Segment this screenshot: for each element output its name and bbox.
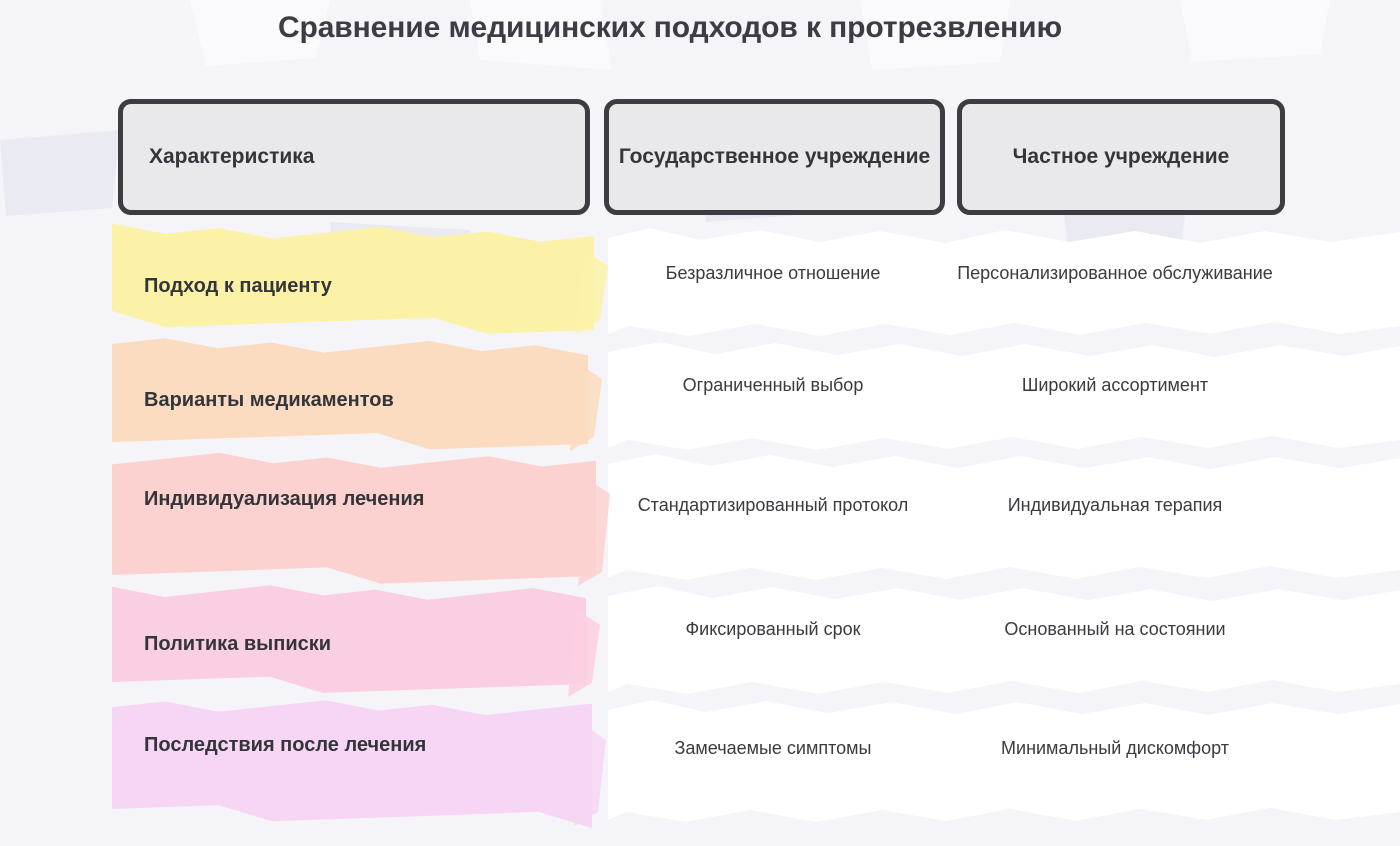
cell-row2-private: Широкий ассортимент	[950, 373, 1280, 399]
column-header-private-institution: Частное учреждение	[957, 99, 1285, 215]
column-header-label: Характеристика	[149, 144, 314, 171]
cell-row4-private: Основанный на состоянии	[950, 617, 1280, 643]
row-label-3: Индивидуализация лечения	[144, 486, 474, 513]
cell-row3-public: Стандартизированный протокол	[598, 493, 948, 519]
page-title: Сравнение медицинских подходов к протрез…	[0, 11, 1340, 45]
highlight-band-tail-row-2	[570, 363, 602, 451]
highlight-band-tail-row-5	[574, 724, 606, 826]
cell-row2-public: Ограниченный выбор	[608, 373, 938, 399]
column-header-public-institution: Государственное учреждение	[604, 99, 945, 215]
highlight-band-row-5	[112, 700, 592, 828]
cell-row3-private: Индивидуальная терапия	[950, 493, 1280, 519]
highlight-band-row-3	[112, 453, 596, 584]
row-label-2: Варианты медикаментов	[144, 387, 574, 414]
column-header-label: Государственное учреждение	[619, 144, 930, 171]
cell-row1-public: Безразличное отношение	[608, 261, 938, 287]
row-label-1: Подход к пациенту	[144, 273, 574, 300]
highlight-band-tail-row-1	[576, 250, 608, 334]
column-header-characteristic: Характеристика	[118, 99, 590, 215]
cell-row5-public: Замечаемые симптомы	[608, 736, 938, 762]
cell-row1-private: Персонализированное обслуживание	[950, 261, 1280, 287]
row-label-4: Политика выписки	[144, 631, 574, 658]
column-header-label: Частное учреждение	[1013, 144, 1230, 171]
row-label-5: Последствия после лечения	[144, 732, 474, 759]
cell-row4-public: Фиксированный срок	[608, 617, 938, 643]
cell-row5-private: Минимальный дискомфорт	[950, 736, 1280, 762]
